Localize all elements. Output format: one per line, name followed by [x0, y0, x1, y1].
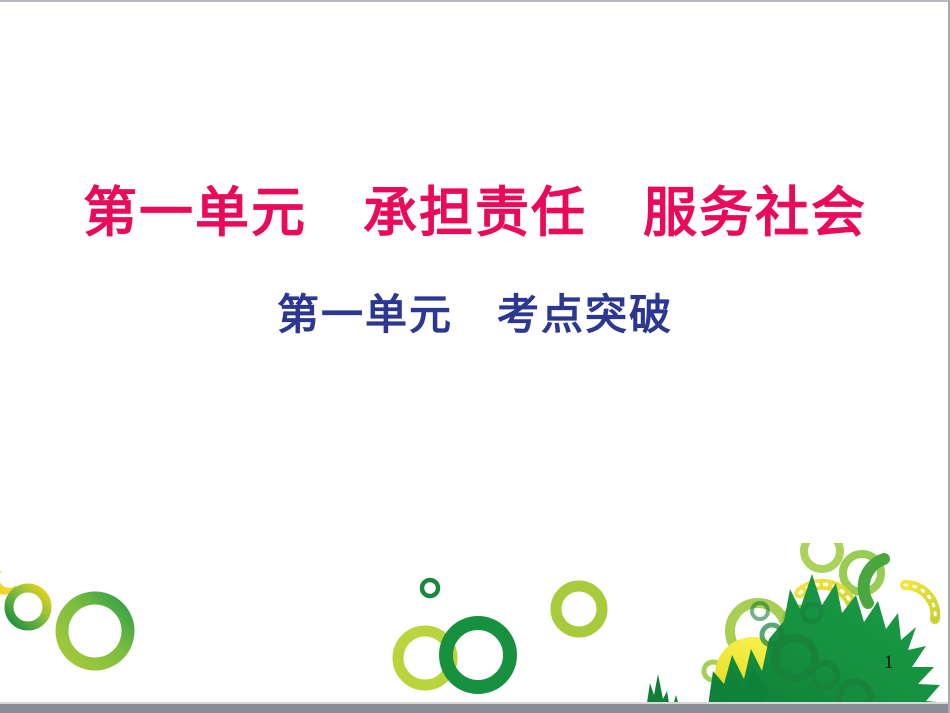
ring-icon-green-center	[446, 623, 510, 687]
slide-canvas: 第一单元 承担责任 服务社会 第一单元 考点突破	[0, 0, 950, 713]
bottom-status-bar	[0, 704, 950, 713]
page-subtitle: 第一单元 考点突破	[0, 289, 950, 341]
ring-icon-lime-right	[556, 586, 602, 632]
dotted-arc-icon-right	[905, 585, 935, 619]
dotted-arc-icon-left	[800, 584, 854, 617]
ring-icon-pale-cluster	[704, 543, 881, 680]
ring-icon-large-left	[62, 598, 128, 664]
arc-icon-green-right	[864, 559, 884, 603]
ring-icon-lime-center	[398, 631, 452, 685]
ring-icon-tiny-center	[422, 580, 438, 596]
decoration-svg	[0, 543, 950, 713]
decorative-artwork	[0, 543, 950, 713]
crescent-icon	[0, 571, 16, 595]
ring-icon-small-left	[9, 588, 47, 626]
page-title: 第一单元 承担责任 服务社会	[0, 180, 950, 246]
maple-leaf-icon	[707, 574, 950, 713]
leaf-ring-detail	[752, 603, 871, 713]
page-number: 1	[884, 652, 894, 674]
